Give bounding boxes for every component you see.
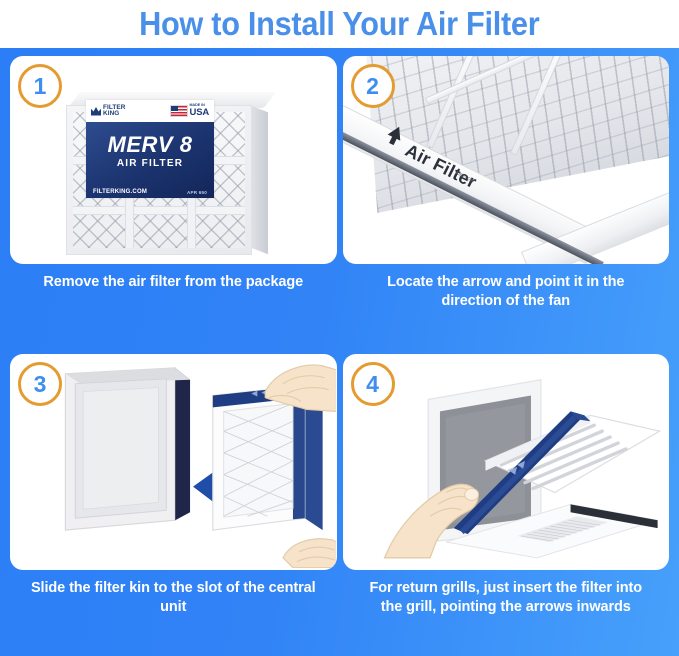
brand-line-2: KING [103, 110, 119, 117]
step-1-image-card: 1 [10, 56, 337, 264]
merv-rating: MERV 8 [86, 134, 214, 156]
step-3-caption: Slide the filter kin to the slot of the … [10, 570, 337, 617]
page-header: How to Install Your Air Filter [0, 0, 679, 48]
product-subtitle: AIR FILTER [86, 158, 214, 169]
apr-rating: APR 650 [187, 190, 207, 195]
steps-board: 1 [0, 48, 679, 656]
step-2-caption: Locate the arrow and point it in the dir… [343, 264, 670, 311]
made-in-usa-text: MADE IN USA [190, 104, 209, 117]
central-unit-housing [65, 368, 190, 530]
brand-name: FILTER KING [103, 105, 126, 117]
made-in-usa-mark: MADE IN USA [170, 104, 209, 117]
step-2-number-badge: 2 [351, 64, 395, 108]
step-4-image-card: 4 [343, 354, 670, 570]
step-3-number-badge: 3 [18, 362, 62, 406]
label-main-panel: MERV 8 AIR FILTER FILTERKING.COM APR 650 [86, 122, 214, 198]
step-card-2: 2 [343, 56, 670, 352]
filter-support-bar [73, 206, 245, 215]
filter-pleat-panel [365, 56, 670, 213]
step-4-caption: For return grills, just insert the filte… [343, 570, 670, 617]
page-title: How to Install Your Air Filter [139, 7, 539, 41]
label-top-strip: FILTER KING MADE IN USA [86, 100, 214, 122]
filter-product-label: FILTER KING MADE IN USA [86, 100, 214, 198]
step-card-3: 3 [10, 354, 337, 650]
infographic-page: How to Install Your Air Filter 1 [0, 0, 679, 656]
filter-king-logo: FILTER KING [91, 105, 126, 117]
step-card-4: 4 [343, 354, 670, 650]
steps-grid: 1 [0, 48, 679, 656]
filter-box-side-face [251, 106, 268, 255]
step-card-1: 1 [10, 56, 337, 352]
brand-website: FILTERKING.COM [93, 189, 147, 195]
country-label: USA [190, 108, 209, 118]
crown-icon [91, 107, 101, 116]
step-1-number-badge: 1 [18, 64, 62, 108]
arrow-stem [388, 136, 396, 145]
label-footer: FILTERKING.COM APR 650 [86, 189, 214, 195]
us-flag-icon [170, 105, 188, 117]
step-1-caption: Remove the air filter from the package [27, 264, 319, 292]
step-4-number-badge: 4 [351, 362, 395, 406]
hand-bottom [283, 539, 336, 568]
step-2-image-card: 2 [343, 56, 670, 264]
step-3-image-card: 3 [10, 354, 337, 570]
